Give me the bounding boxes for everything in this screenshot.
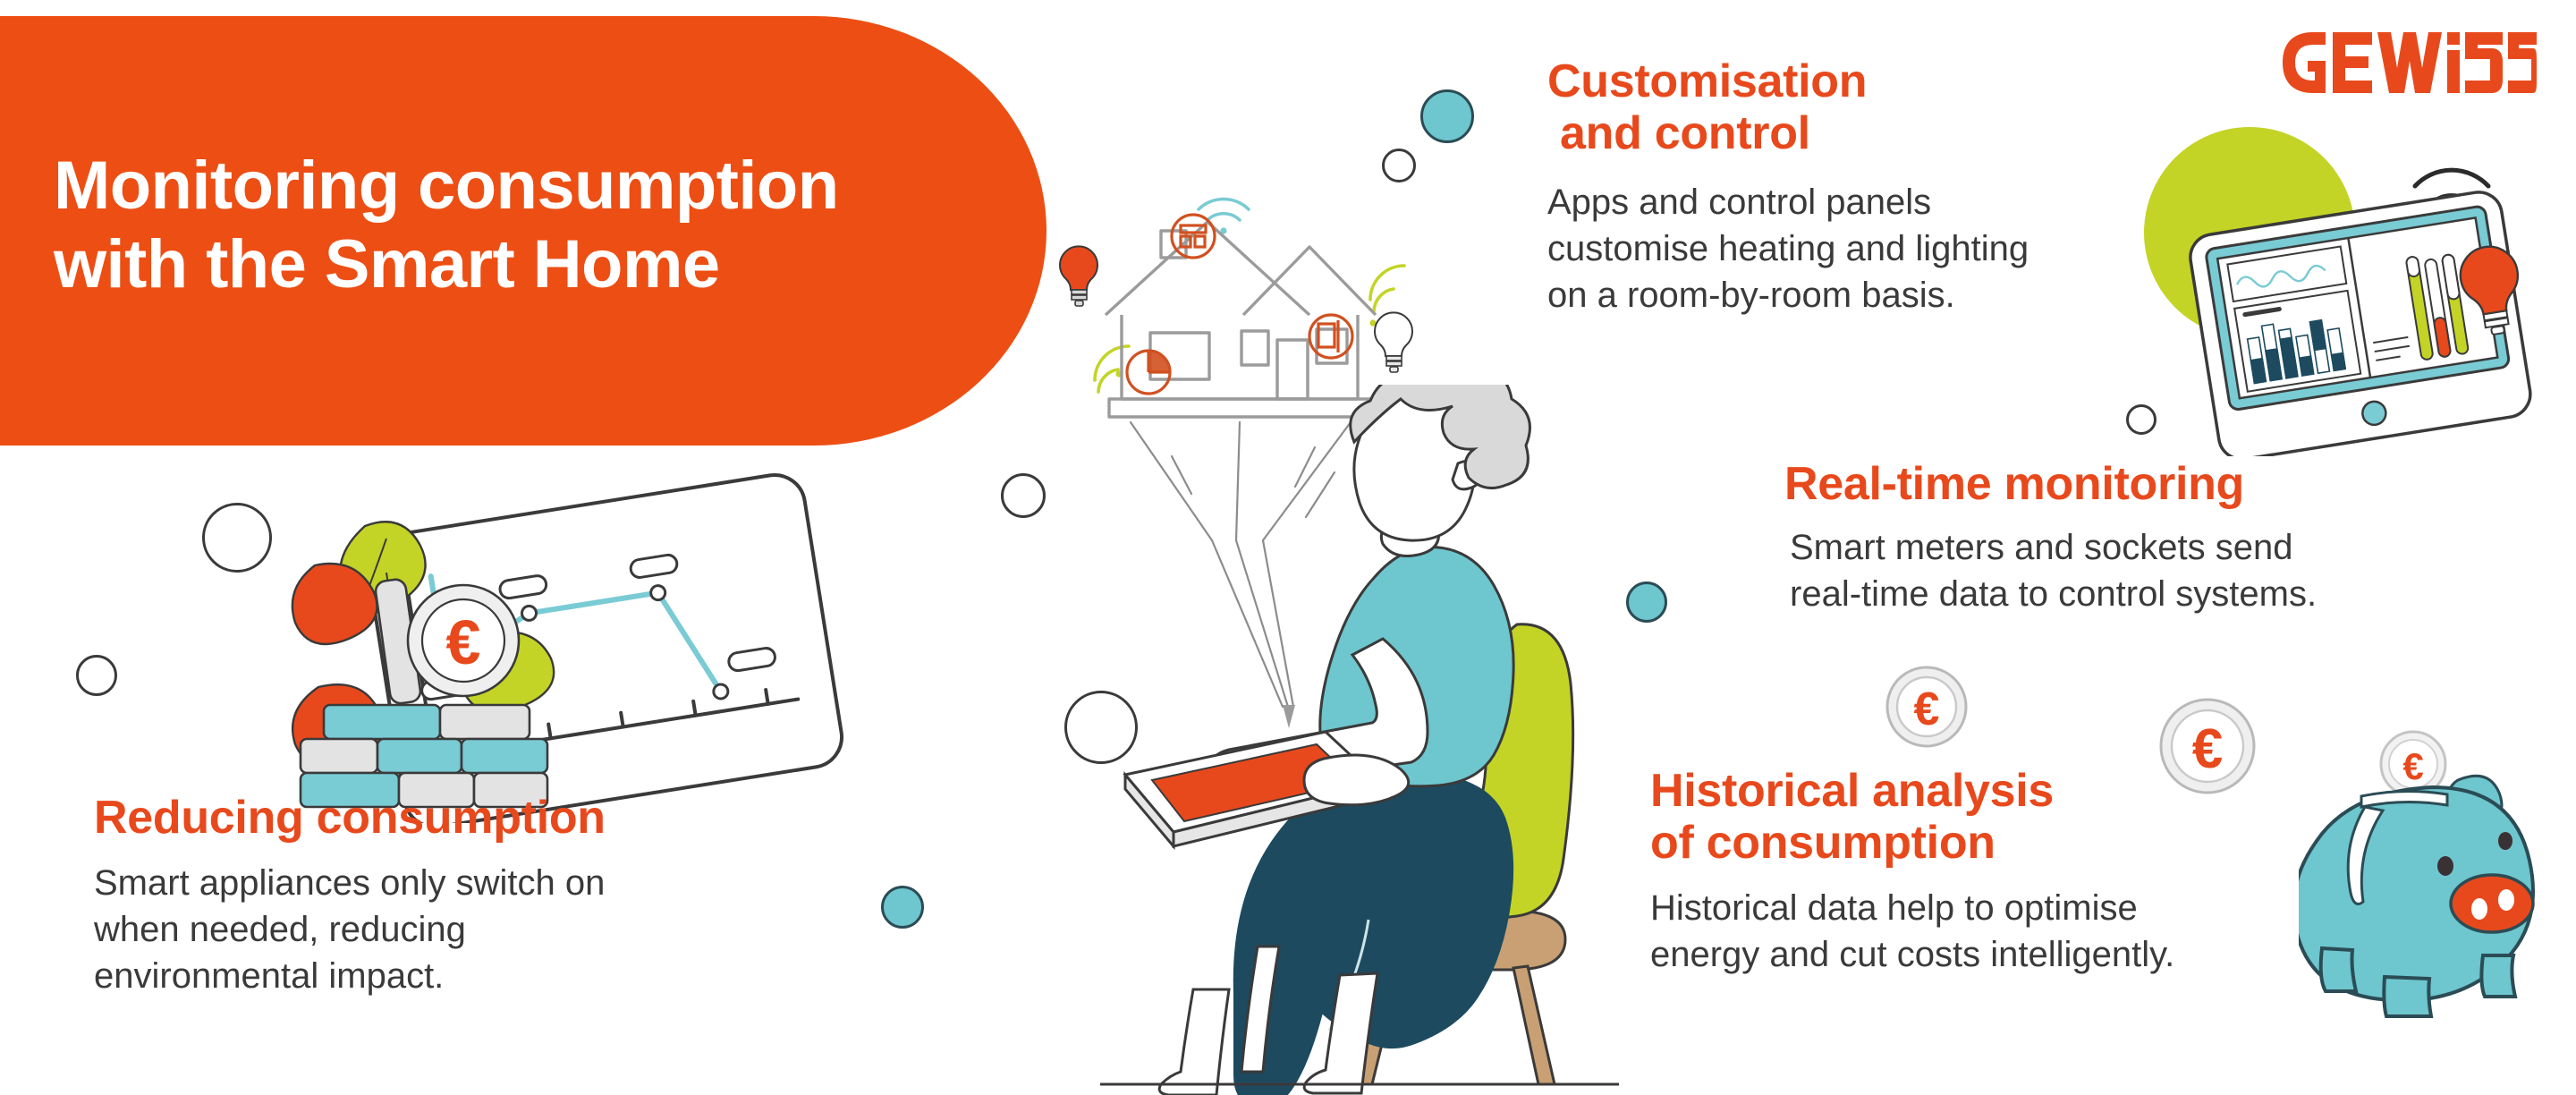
tablet-chart-illustration: € — [286, 465, 930, 823]
feature-block-realtime: Real-time monitoring Smart meters and so… — [1784, 458, 2446, 617]
infographic-canvas: Monitoring consumption with the Smart Ho… — [0, 0, 2576, 1095]
feature-body-line: energy and cut costs intelligently. — [1650, 931, 2294, 978]
page-title-line-1: Monitoring consumption — [54, 147, 1011, 225]
svg-text:€: € — [1914, 683, 1940, 735]
svg-text:€: € — [446, 607, 481, 677]
feature-block-reducing: Reducing consumption Smart appliances on… — [94, 792, 738, 999]
title-banner: Monitoring consumption with the Smart Ho… — [0, 16, 1046, 446]
seated-person-illustration — [1100, 385, 1744, 1095]
svg-text:€: € — [2402, 745, 2423, 787]
feature-title-line-1: Historical analysis — [1650, 765, 2054, 817]
feature-title-historical: Historical analysis of consumption — [1650, 765, 2294, 869]
stool-leg-right — [1513, 966, 1555, 1084]
feature-title-customisation: Customisation and control — [1547, 55, 2173, 159]
piggy-leg-left — [2321, 948, 2356, 991]
feature-body-reducing: Smart appliances only switch on when nee… — [94, 860, 738, 999]
hand — [1304, 755, 1409, 805]
deco-circle-teal — [881, 886, 924, 929]
feature-body-line: Apps and control panels — [1547, 179, 2173, 225]
feature-body-line: Smart meters and sockets send — [1790, 524, 2446, 571]
lightbulb-orange-icon — [1060, 246, 1097, 306]
piggy-eye — [2437, 856, 2453, 876]
feature-title-realtime: Real-time monitoring — [1784, 458, 2446, 510]
feature-body-historical: Historical data help to optimise energy … — [1650, 885, 2294, 978]
feature-title-line-2: and control — [1547, 107, 2173, 159]
feature-block-historical: Historical analysis of consumption Histo… — [1650, 765, 2294, 978]
page-title: Monitoring consumption with the Smart Ho… — [54, 147, 1011, 304]
piggy-leg-mid — [2384, 977, 2431, 1016]
deco-circle-outline — [1001, 473, 1046, 518]
feature-body-realtime: Smart meters and sockets send real-time … — [1784, 524, 2446, 617]
deco-circle-teal — [1420, 89, 1474, 143]
feature-body-line: Historical data help to optimise — [1650, 885, 2294, 931]
wifi-arcs-top — [1199, 199, 1249, 220]
feature-body-line: environmental impact. — [94, 953, 738, 999]
euro-coin-large: € — [408, 585, 519, 696]
feature-body-line: real-time data to control systems. — [1790, 571, 2446, 617]
gewiss-logo — [2279, 30, 2538, 95]
feature-title-reducing: Reducing consumption — [94, 792, 738, 844]
piggy-bank-illustration: € — [2299, 725, 2576, 1029]
feature-block-customisation: Customisation and control Apps and contr… — [1547, 55, 2173, 318]
piggy-eye — [2498, 832, 2512, 850]
lightbulb-white-icon — [1375, 312, 1412, 372]
feature-title-line-1: Customisation — [1547, 55, 1867, 107]
feature-body-line: customise heating and lighting — [1547, 225, 2173, 272]
euro-coin-small: € — [1884, 664, 1970, 750]
deco-circle-outline — [76, 655, 117, 696]
feature-body-line: Smart appliances only switch on — [94, 860, 738, 906]
feature-body-line: when needed, reducing — [94, 906, 738, 953]
dashboard-tablet-illustration — [2120, 98, 2576, 456]
wifi-arcs-right — [1370, 266, 1404, 311]
page-title-line-2: with the Smart Home — [54, 225, 1011, 304]
feature-title-line-2: of consumption — [1650, 817, 1996, 869]
deco-circle-outline — [202, 503, 272, 573]
piggy-snout — [2451, 875, 2533, 932]
feature-body-line: on a room-by-room basis. — [1547, 272, 2173, 318]
piggy-leg-right — [2481, 955, 2515, 997]
feature-body-customisation: Apps and control panels customise heatin… — [1547, 179, 2173, 318]
